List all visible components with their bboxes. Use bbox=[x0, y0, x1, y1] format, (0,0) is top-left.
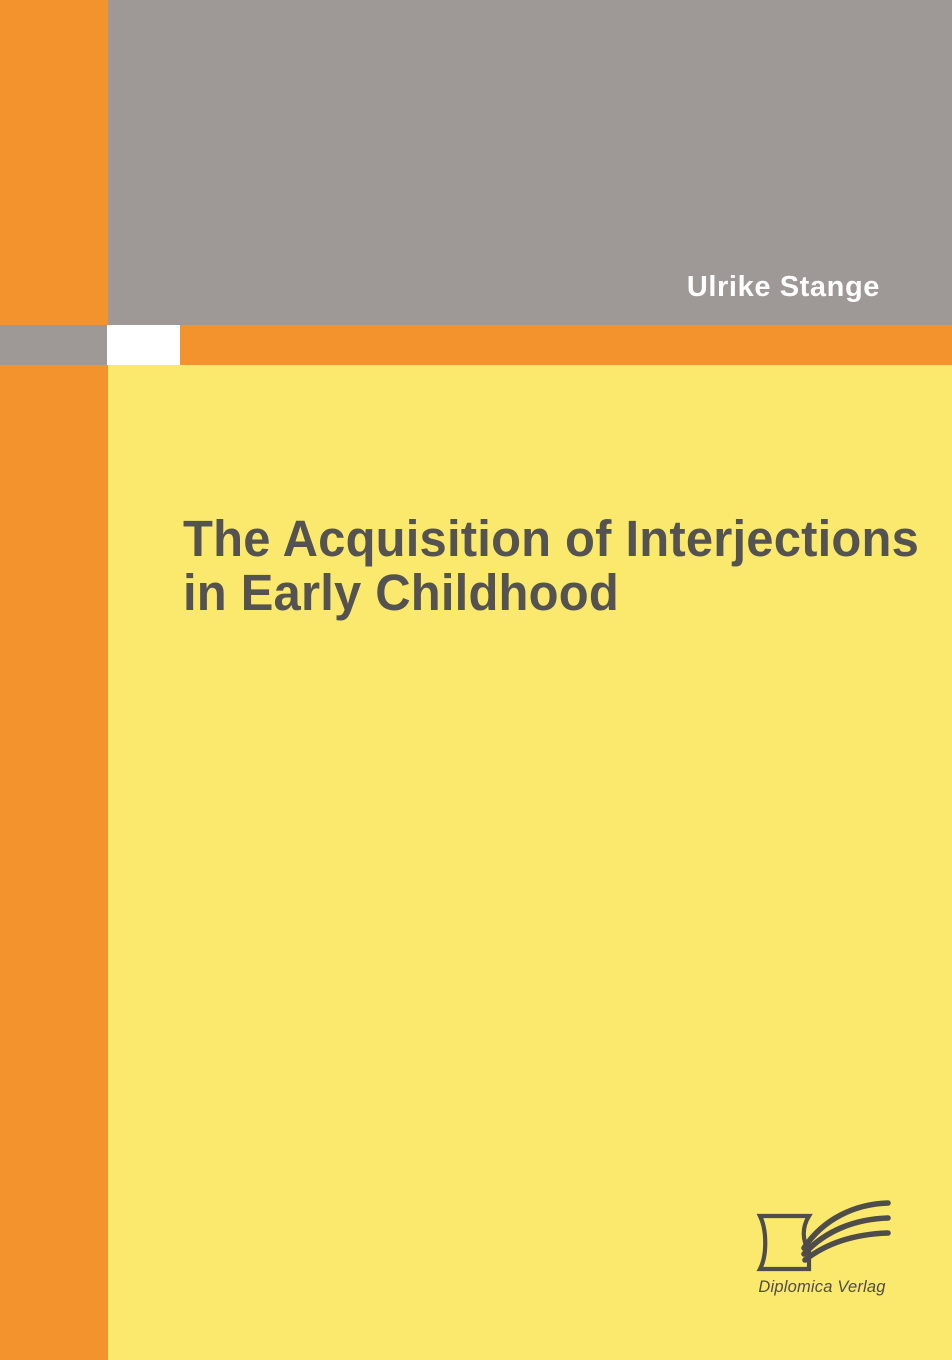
accent-band-gray-segment bbox=[0, 325, 107, 365]
left-orange-column-upper bbox=[0, 0, 108, 325]
publisher-name: Diplomica Verlag bbox=[752, 1278, 892, 1297]
author-name: Ulrike Stange bbox=[687, 270, 880, 304]
accent-band-orange-segment bbox=[180, 325, 952, 365]
book-title-line-2: in Early Childhood bbox=[183, 566, 915, 620]
accent-band-white-segment bbox=[107, 325, 180, 365]
book-title: The Acquisition of Interjections in Earl… bbox=[183, 512, 915, 620]
book-cover: Ulrike Stange The Acquisition of Interje… bbox=[0, 0, 952, 1360]
left-orange-column-lower bbox=[0, 365, 108, 1360]
book-title-line-1: The Acquisition of Interjections bbox=[183, 512, 915, 566]
publisher-logo: Diplomica Verlag bbox=[752, 1196, 892, 1304]
book-with-swooshes-icon bbox=[752, 1196, 892, 1276]
